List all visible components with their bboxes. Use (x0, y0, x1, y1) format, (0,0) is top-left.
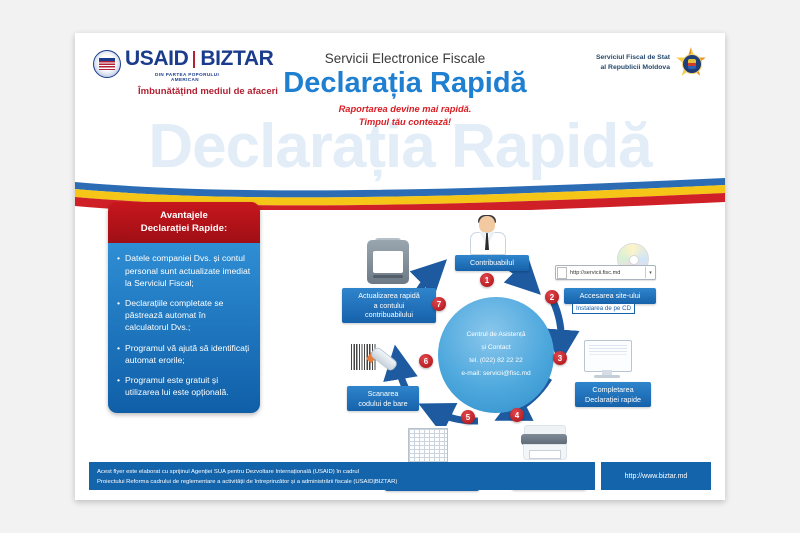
printer-icon (521, 425, 567, 461)
process-diagram: Centrul de Asistență și Contact tel. (02… (265, 193, 725, 493)
center-email: e-mail: servicii@fisc.md (461, 368, 530, 381)
title-block: Servicii Electronice Fiscale Declarația … (240, 51, 570, 129)
barcode-scanner-icon (349, 343, 401, 383)
step-number-3: 3 (553, 351, 567, 365)
taxpayer-person-icon (468, 215, 506, 253)
footer-website-link[interactable]: http://www.biztar.md (601, 462, 711, 490)
step-number-6: 6 (419, 354, 433, 368)
step-number-2: 2 (545, 290, 559, 304)
monitor-icon (584, 340, 630, 380)
step-label-7: Actualizarea rapidă a contului contribua… (342, 288, 436, 323)
tax-service-block: Serviciul Fiscal de Stat al Republicii M… (596, 47, 707, 79)
url-address-bar[interactable]: http://servicii.fisc.md ▾ (555, 265, 656, 280)
logo-divider (193, 51, 195, 68)
list-item: Declarațiile completate se păstrează aut… (117, 297, 251, 334)
list-item: Datele companiei Dvs. și contul personal… (117, 252, 251, 289)
footer-line-1: Acest flyer este elaborat cu sprijinul A… (97, 467, 587, 477)
flyer-card: Declarația Rapidă USAIDBIZTAR DIN PARTEA… (75, 33, 725, 500)
support-center-circle: Centrul de Asistență și Contact tel. (02… (438, 297, 554, 413)
agency-line-1: Serviciul Fiscal de Stat (596, 53, 670, 63)
url-text: http://servicii.fisc.md (570, 270, 620, 276)
advantages-header: Avantajele Declarației Rapide: (108, 202, 260, 243)
step-label-3: Completarea Declarației rapide (575, 382, 651, 407)
chevron-down-icon[interactable]: ▾ (645, 267, 655, 278)
center-phone: tel. (022) 82 22 22 (469, 355, 523, 368)
center-line-2: și Contact (481, 342, 510, 355)
advantages-box: Avantajele Declarației Rapide: Datele co… (108, 202, 260, 413)
step-label-6: Scanarea codului de bare (347, 386, 419, 411)
page-icon (557, 267, 567, 279)
cabinet-document-shape (373, 251, 403, 273)
list-item: Programul vă ajută să identificați autom… (117, 342, 251, 366)
account-update-icon (365, 238, 411, 286)
step-sublabel-2: Instalarea de pe CD (572, 303, 635, 314)
page-subtitle: Servicii Electronice Fiscale (240, 51, 570, 66)
page-title: Declarația Rapidă (240, 67, 570, 99)
collar-right-shape (489, 232, 495, 242)
advantages-heading-line-2: Declarației Rapide: (114, 222, 254, 235)
head-shape (479, 216, 495, 233)
advantages-heading-line-1: Avantajele (114, 209, 254, 222)
step-label-2: Accesarea site-ului (564, 288, 656, 304)
usaid-wordmark: USAID (125, 47, 188, 70)
collar-left-shape (479, 232, 485, 242)
step-number-4: 4 (510, 408, 524, 422)
slogan-line-2: Timpul tău contează! (240, 116, 570, 129)
advantages-list: Datele companiei Dvs. și contul personal… (108, 243, 260, 412)
center-line-1: Centrul de Asistență (466, 329, 525, 342)
footer-disclaimer: Acest flyer este elaborat cu sprijinul A… (89, 462, 595, 490)
slogan-line-1: Raportarea devine mai rapidă. (240, 103, 570, 116)
printed-paper-shape (529, 450, 561, 459)
monitor-foot-shape (594, 375, 620, 378)
step-number-1: 1 (480, 273, 494, 287)
usaid-seal-icon (93, 50, 121, 78)
agency-line-2: al Republicii Moldova (596, 63, 670, 73)
tax-service-emblem-icon (675, 47, 707, 79)
monitor-screen-shape (584, 340, 632, 372)
step-label-1: Contribuabilul (455, 255, 529, 271)
footer: Acest flyer este elaborat cu sprijinul A… (89, 462, 711, 490)
screen-lines-shape (589, 345, 627, 346)
list-item: Programul este gratuit și utilizarea lui… (117, 374, 251, 398)
emblem-disc-icon (682, 54, 702, 74)
step-number-5: 5 (461, 410, 475, 424)
step-number-7: 7 (432, 297, 446, 311)
cabinet-drawer-shape (373, 275, 403, 278)
footer-line-2: Proiectului Reforma cadrului de reglemen… (97, 477, 587, 487)
